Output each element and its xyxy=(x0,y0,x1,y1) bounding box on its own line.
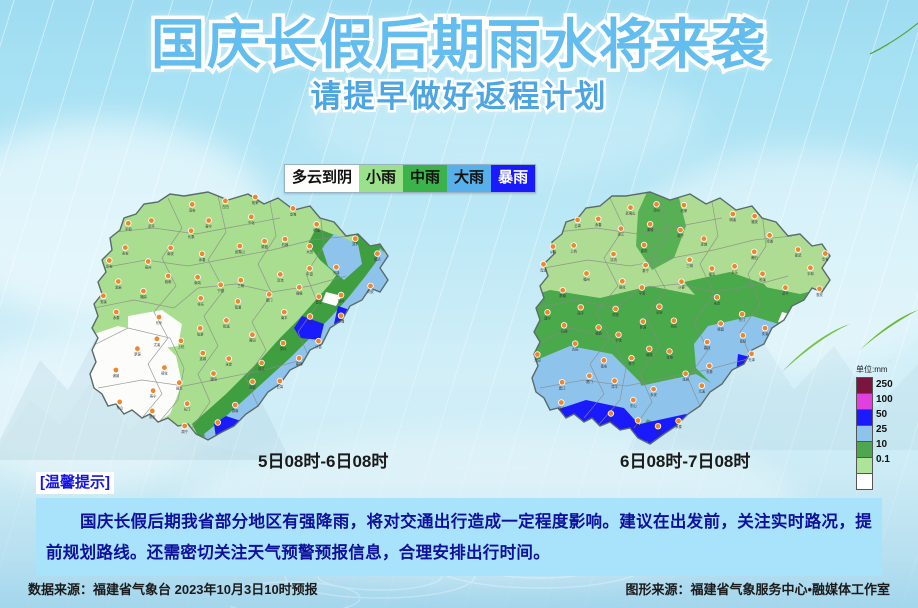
city-label: 漳浦 xyxy=(766,238,773,243)
city-label: 霞浦 xyxy=(540,267,547,272)
city-label: 厦门 xyxy=(586,379,593,384)
city-label: 晋江 xyxy=(316,300,323,305)
footer-data-source: 数据来源：福建省气象台 2023年10月3日10时预报 xyxy=(28,579,318,598)
city-label: 仙游 xyxy=(197,331,204,336)
colorbar-swatch-3 xyxy=(857,426,872,442)
city-label: 闽清 xyxy=(558,406,565,411)
city-marker-icon xyxy=(667,349,673,355)
city-marker-icon xyxy=(206,218,212,224)
city-marker-icon xyxy=(647,346,653,352)
city-label: 云霄 xyxy=(277,384,284,389)
city-marker-icon xyxy=(817,286,823,292)
city-label: 柘荣 xyxy=(681,208,688,213)
city-marker-icon xyxy=(278,272,284,278)
city-label: 建阳 xyxy=(210,377,217,382)
page-subtitle: 请提早做好返程计划 xyxy=(0,78,918,116)
colorbar-unit: 单位:mm xyxy=(856,364,908,375)
city-label: 清流 xyxy=(610,257,617,262)
city-label: 连城 xyxy=(701,242,708,247)
colorbar-swatch-0 xyxy=(857,378,872,394)
legend-item-2[interactable]: 中雨 xyxy=(403,165,447,192)
city-marker-icon xyxy=(718,321,724,327)
city-label: 惠安 xyxy=(816,292,823,297)
city-label: 平和 xyxy=(125,226,132,231)
city-label: 将乐 xyxy=(671,324,678,329)
city-marker-icon xyxy=(762,325,768,331)
city-label: 宁化 xyxy=(615,338,622,343)
city-label: 古田 xyxy=(222,204,229,209)
city-label: 邵武 xyxy=(795,253,802,258)
rainfall-colorbar: 单位:mm 2501005025100.1 xyxy=(856,364,908,490)
city-label: 德化 xyxy=(619,284,626,289)
city-marker-icon xyxy=(277,378,283,384)
city-marker-icon xyxy=(200,350,206,356)
city-label: 永安 xyxy=(650,392,657,397)
city-label: 厦门 xyxy=(266,297,273,302)
city-marker-icon xyxy=(184,401,190,407)
city-label: 德化 xyxy=(161,371,168,376)
city-label: 尤溪 xyxy=(154,342,161,347)
city-label: 同安 xyxy=(612,312,619,317)
city-marker-icon xyxy=(259,360,265,366)
city-marker-icon xyxy=(752,213,758,219)
city-marker-icon xyxy=(195,274,201,280)
city-marker-icon xyxy=(296,355,302,361)
city-marker-icon xyxy=(280,340,286,346)
city-label: 漳州 xyxy=(280,346,287,351)
city-marker-icon xyxy=(253,194,259,200)
city-label: 连城 xyxy=(200,356,207,361)
city-marker-icon xyxy=(701,236,707,242)
city-marker-icon xyxy=(290,206,296,212)
city-label: 政和 xyxy=(165,279,172,284)
city-label: 永泰 xyxy=(675,424,682,429)
city-marker-icon xyxy=(307,243,313,249)
city-label: 长乐 xyxy=(731,269,738,274)
city-label: 安溪 xyxy=(762,331,769,336)
city-marker-icon xyxy=(297,285,303,291)
city-label: 长泰 xyxy=(706,369,713,374)
city-label: 大田 xyxy=(306,249,313,254)
city-label: 连江 xyxy=(618,232,625,237)
city-marker-icon xyxy=(641,242,647,248)
map-day2-svg: 浦城武夷山松溪政和建阳建瓯南平顺昌邵武光泽泰宁建宁将乐明溪清流宁化长汀连城上杭武… xyxy=(500,186,850,476)
city-marker-icon xyxy=(687,257,693,263)
city-label: 长泰 xyxy=(188,234,195,239)
city-marker-icon xyxy=(198,296,204,302)
city-marker-icon xyxy=(541,262,547,268)
city-marker-icon xyxy=(353,236,359,242)
city-marker-icon xyxy=(338,313,344,319)
city-marker-icon xyxy=(714,295,720,301)
city-label: 平潭 xyxy=(639,291,646,296)
city-marker-icon xyxy=(218,282,224,288)
city-label: 南平 xyxy=(577,310,584,315)
city-label: 龙海 xyxy=(290,211,297,216)
city-label: 明溪 xyxy=(313,227,320,232)
city-marker-icon xyxy=(223,198,229,204)
city-label: 浦城 xyxy=(113,373,120,378)
city-label: 永泰 xyxy=(113,315,120,320)
city-label: 晋江 xyxy=(559,385,566,390)
city-label: 闽侯 xyxy=(646,352,653,357)
colorbar-label-5: 0.1 xyxy=(876,452,893,467)
city-label: 长乐 xyxy=(156,320,163,325)
city-marker-icon xyxy=(611,251,617,257)
city-label: 南靖 xyxy=(740,338,747,343)
city-marker-icon xyxy=(101,293,107,299)
city-marker-icon xyxy=(162,365,168,371)
city-label: 福清 xyxy=(374,257,381,262)
colorbar-labels: 2501005025100.1 xyxy=(876,377,893,490)
city-marker-icon xyxy=(107,258,113,264)
city-label: 武平 xyxy=(782,291,789,296)
city-marker-icon xyxy=(226,356,232,362)
city-label: 平潭 xyxy=(306,271,313,276)
city-marker-icon xyxy=(587,373,593,379)
city-label: 顺昌 xyxy=(717,328,724,332)
city-label: 东山 xyxy=(630,403,637,408)
city-marker-icon xyxy=(676,418,682,424)
city-label: 沙县 xyxy=(315,344,322,349)
city-marker-icon xyxy=(612,378,618,384)
page-title: 国庆长假后期雨水将来袭 xyxy=(0,14,918,76)
colorbar-label-1: 100 xyxy=(876,392,893,407)
city-marker-icon xyxy=(559,380,565,386)
city-label: 泉州 xyxy=(608,417,615,422)
city-label: 邵武 xyxy=(249,385,256,390)
city-label: 莆田 xyxy=(751,255,758,260)
city-label: 宁德 xyxy=(217,288,224,293)
city-marker-icon xyxy=(681,202,687,208)
city-marker-icon xyxy=(224,318,230,324)
city-marker-icon xyxy=(704,339,710,345)
city-marker-icon xyxy=(640,319,646,325)
city-label: 武夷山 xyxy=(626,211,636,216)
city-marker-icon xyxy=(550,244,556,250)
city-marker-icon xyxy=(654,202,660,208)
footer: 数据来源：福建省气象台 2023年10月3日10时预报 图形来源：福建省气象服务… xyxy=(0,579,918,598)
title-block: 国庆长假后期雨水将来袭 请提早做好返程计划 xyxy=(0,14,918,116)
city-label: 南安 xyxy=(601,363,608,368)
city-marker-icon xyxy=(707,363,713,369)
city-marker-icon xyxy=(535,352,541,358)
colorbar-swatch-5 xyxy=(857,458,872,474)
city-marker-icon xyxy=(116,279,122,285)
city-label: 安溪 xyxy=(100,299,107,304)
city-label: 上杭 xyxy=(178,344,185,349)
city-marker-icon xyxy=(572,341,578,347)
city-label: 光泽 xyxy=(333,270,340,275)
city-label: 福鼎 xyxy=(140,294,147,299)
city-label: 云霄 xyxy=(574,223,581,228)
city-marker-icon xyxy=(578,305,584,311)
city-label: 南靖 xyxy=(194,280,201,285)
city-marker-icon xyxy=(628,205,634,211)
city-marker-icon xyxy=(149,218,155,224)
tip-label: [温馨提示] xyxy=(36,472,114,494)
city-marker-icon xyxy=(316,294,322,300)
city-label: 将乐 xyxy=(197,301,204,306)
city-label: 罗源 xyxy=(134,352,141,357)
city-marker-icon xyxy=(307,314,313,320)
city-marker-icon xyxy=(596,325,602,331)
city-label: 漳浦 xyxy=(338,319,345,324)
city-label: 霞浦 xyxy=(235,304,242,309)
city-label: 长汀 xyxy=(184,407,191,412)
city-label: 漳平 xyxy=(611,384,618,389)
city-marker-icon xyxy=(150,388,156,394)
city-marker-icon xyxy=(250,379,256,385)
city-marker-icon xyxy=(197,326,203,332)
city-marker-icon xyxy=(156,314,162,320)
city-label: 政和 xyxy=(635,424,642,429)
city-label: 永春 xyxy=(595,222,602,227)
city-marker-icon xyxy=(114,309,120,315)
city-label: 明溪 xyxy=(730,217,737,222)
city-label: 南安 xyxy=(167,251,174,256)
city-marker-icon xyxy=(679,279,685,285)
city-label: 三明 xyxy=(686,264,693,268)
city-label: 连江 xyxy=(258,366,265,371)
city-label: 同安 xyxy=(367,289,374,294)
city-label: 古田 xyxy=(572,347,579,352)
city-label: 漳平 xyxy=(352,242,359,247)
city-marker-icon xyxy=(560,287,566,293)
poster-canvas: 国庆长假后期雨水将来袭 请提早做好返程计划 多云到阴小雨中雨大雨暴雨 xyxy=(0,0,918,608)
city-marker-icon xyxy=(752,249,758,255)
city-marker-icon xyxy=(629,355,635,361)
city-marker-icon xyxy=(189,202,195,208)
city-marker-icon xyxy=(266,292,272,298)
city-marker-icon xyxy=(647,221,653,227)
city-label: 建瓯 xyxy=(296,361,303,366)
city-marker-icon xyxy=(657,304,663,310)
city-label: 龙岩 xyxy=(115,285,122,290)
city-label: 屏南 xyxy=(232,408,239,413)
colorbar-swatch-6 xyxy=(857,474,872,489)
city-marker-icon xyxy=(188,228,194,234)
city-marker-icon xyxy=(235,299,241,305)
city-label: 福州 xyxy=(583,277,590,282)
colorbar-label-0: 250 xyxy=(876,377,893,392)
legend-item-3[interactable]: 大雨 xyxy=(447,165,491,192)
city-marker-icon xyxy=(250,332,256,338)
city-label: 武夷山 xyxy=(235,249,245,254)
city-marker-icon xyxy=(238,277,244,283)
colorbar-label-2: 50 xyxy=(876,407,893,422)
city-marker-icon xyxy=(559,400,565,406)
city-marker-icon xyxy=(639,285,645,291)
city-label: 宁化 xyxy=(248,220,255,225)
city-label: 福清 xyxy=(709,272,716,277)
city-marker-icon xyxy=(643,262,649,268)
city-marker-icon xyxy=(154,336,160,342)
city-label: 诏安 xyxy=(656,310,663,315)
city-marker-icon xyxy=(316,338,322,344)
city-label: 建瓯 xyxy=(704,345,711,350)
city-label: 龙岩 xyxy=(682,377,689,382)
city-label: 惠安 xyxy=(149,414,156,419)
bamboo-leaf-icon xyxy=(858,306,918,352)
city-label: 建宁 xyxy=(215,426,222,431)
city-label: 三明 xyxy=(238,284,245,288)
city-marker-icon xyxy=(783,285,789,291)
city-marker-icon xyxy=(177,380,183,386)
colorbar-label-6 xyxy=(876,467,893,482)
city-marker-icon xyxy=(545,310,551,316)
map-day1[interactable]: 浦城武夷山松溪政和建阳建瓯南平顺昌邵武光泽泰宁建宁将乐明溪清流宁化长汀连城上杭武… xyxy=(58,188,408,468)
city-label: 泰宁 xyxy=(205,224,212,229)
city-marker-icon xyxy=(232,402,238,408)
city-marker-icon xyxy=(655,423,661,429)
city-marker-icon xyxy=(699,383,705,389)
city-label: 龙海 xyxy=(666,354,673,359)
city-marker-icon xyxy=(375,251,381,257)
city-marker-icon xyxy=(760,271,766,277)
city-label: 大田 xyxy=(534,358,541,363)
city-marker-icon xyxy=(307,266,313,272)
city-label: 漳州 xyxy=(653,207,660,212)
city-marker-icon xyxy=(571,243,577,249)
city-label: 诏安 xyxy=(189,207,196,212)
colorbar-swatch-2 xyxy=(857,410,872,426)
city-marker-icon xyxy=(631,397,637,403)
city-label: 寿宁 xyxy=(628,361,635,366)
city-label: 平和 xyxy=(807,271,814,276)
city-marker-icon xyxy=(123,245,129,251)
city-marker-icon xyxy=(282,309,288,315)
city-marker-icon xyxy=(808,265,814,271)
footer-graphic-source: 图形来源：福建省气象服务中心•融媒体工作室 xyxy=(625,579,890,598)
city-label: 华安 xyxy=(822,257,829,262)
colorbar-label-4: 10 xyxy=(876,437,893,452)
city-marker-icon xyxy=(575,217,581,223)
city-marker-icon xyxy=(150,408,156,414)
colorbar-swatches xyxy=(856,377,873,490)
city-label: 建阳 xyxy=(641,248,648,253)
city-label: 顺昌 xyxy=(261,245,268,249)
city-marker-icon xyxy=(678,227,684,233)
city-label: 泰宁 xyxy=(642,268,649,273)
city-label: 沙县 xyxy=(678,285,685,290)
city-marker-icon xyxy=(613,306,619,312)
city-marker-icon xyxy=(608,411,614,417)
city-marker-icon xyxy=(145,259,151,265)
city-label: 华安 xyxy=(106,264,113,269)
city-label: 福安 xyxy=(307,320,314,325)
city-marker-icon xyxy=(338,292,344,298)
city-marker-icon xyxy=(709,266,715,272)
city-marker-icon xyxy=(141,288,147,294)
city-marker-icon xyxy=(182,423,188,429)
colorbar-swatch-1 xyxy=(857,394,872,410)
map-day1-caption: 5日08时-6日08时 xyxy=(258,447,388,472)
tip-body: 国庆长假后期我省部分地区有强降雨，将对交通出行造成一定程度影响。建议在出发前，关… xyxy=(36,498,882,576)
map-day2-caption: 6日08时-7日08时 xyxy=(620,447,750,472)
city-label: 寿宁 xyxy=(150,394,157,399)
city-label: 南平 xyxy=(281,315,288,320)
colorbar-label-3: 25 xyxy=(876,422,893,437)
city-marker-icon xyxy=(651,386,657,392)
city-marker-icon xyxy=(215,420,221,426)
city-marker-icon xyxy=(671,318,677,324)
city-marker-icon xyxy=(168,245,174,251)
city-marker-icon xyxy=(601,358,607,364)
city-marker-icon xyxy=(113,367,119,373)
city-marker-icon xyxy=(618,226,624,232)
city-label: 周宁 xyxy=(677,233,684,238)
city-label: 莆田 xyxy=(249,338,256,343)
city-marker-icon xyxy=(178,338,184,344)
city-marker-icon xyxy=(561,323,567,329)
city-label: 福鼎 xyxy=(595,331,602,336)
city-label: 上杭 xyxy=(570,248,577,253)
city-label: 福安 xyxy=(751,219,758,224)
city-label: 永定 xyxy=(714,300,721,305)
city-marker-icon xyxy=(767,233,773,239)
city-marker-icon xyxy=(249,214,255,220)
city-label: 闽侯 xyxy=(296,290,303,295)
city-label: 永春 xyxy=(199,257,206,262)
city-label: 东山 xyxy=(116,405,123,410)
city-marker-icon xyxy=(334,264,340,270)
city-label: 清流 xyxy=(277,277,284,282)
city-marker-icon xyxy=(635,418,641,424)
city-marker-icon xyxy=(117,399,123,405)
city-marker-icon xyxy=(732,264,738,270)
city-label: 泉州 xyxy=(145,265,152,270)
city-label: 建宁 xyxy=(544,315,551,320)
city-label: 永定 xyxy=(226,362,233,367)
city-marker-icon xyxy=(683,371,689,377)
city-label: 永安 xyxy=(122,251,129,256)
city-marker-icon xyxy=(199,251,205,257)
city-marker-icon xyxy=(616,332,622,338)
city-label: 石狮 xyxy=(282,242,289,247)
city-label: 仙游 xyxy=(655,429,662,434)
city-marker-icon xyxy=(165,273,171,279)
city-label: 浦城 xyxy=(647,227,654,232)
city-marker-icon xyxy=(211,371,217,377)
city-label: 福州 xyxy=(338,298,345,303)
city-label: 宁德 xyxy=(550,250,557,255)
city-marker-icon xyxy=(730,211,736,217)
city-label: 松溪 xyxy=(223,323,230,328)
city-marker-icon xyxy=(739,311,745,317)
city-marker-icon xyxy=(262,238,268,244)
city-marker-icon xyxy=(596,216,602,222)
city-marker-icon xyxy=(368,283,374,289)
city-marker-icon xyxy=(749,351,755,357)
city-marker-icon xyxy=(823,251,829,257)
city-marker-icon xyxy=(584,271,590,277)
city-marker-icon xyxy=(620,279,626,285)
city-marker-icon xyxy=(237,243,243,249)
city-label: 长汀 xyxy=(739,317,746,322)
city-label: 石狮 xyxy=(561,328,568,333)
city-marker-icon xyxy=(126,221,132,227)
colorbar-swatch-4 xyxy=(857,442,872,458)
city-label: 柘荣 xyxy=(252,200,259,205)
map-day1-svg: 浦城武夷山松溪政和建阳建瓯南平顺昌邵武光泽泰宁建宁将乐明溪清流宁化长汀连城上杭武… xyxy=(58,188,408,468)
city-marker-icon xyxy=(135,346,141,352)
city-marker-icon xyxy=(314,222,320,228)
city-label: 松溪 xyxy=(759,277,766,282)
city-label: 罗源 xyxy=(640,325,647,330)
city-marker-icon xyxy=(282,236,288,242)
map-day2[interactable]: 浦城武夷山松溪政和建阳建瓯南平顺昌邵武光泽泰宁建宁将乐明溪清流宁化长汀连城上杭武… xyxy=(500,186,850,476)
